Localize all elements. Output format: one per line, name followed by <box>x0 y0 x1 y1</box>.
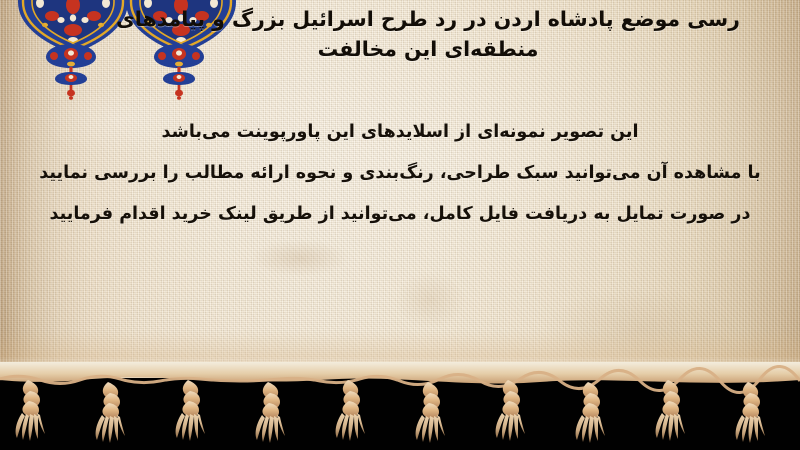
notice-line: در صورت تمایل به دریافت فایل کامل، می‌تو… <box>0 194 800 235</box>
carpet-fringe-tassels <box>0 360 800 450</box>
sample-slide-notice: این تصویر نمونه‌ای از اسلایدهای این پاور… <box>0 112 800 235</box>
slide-title: رسی موضع پادشاه اردن در رد طرح اسرائیل ب… <box>48 4 800 64</box>
slide-title-line: منطقه‌ای این مخالفت <box>48 34 800 64</box>
slide-canvas: رسی موضع پادشاه اردن در رد طرح اسرائیل ب… <box>0 0 800 450</box>
slide-title-line: رسی موضع پادشاه اردن در رد طرح اسرائیل ب… <box>48 4 800 34</box>
notice-line: با مشاهده آن می‌توانید سبک طراحی، رنگ‌بن… <box>0 153 800 194</box>
notice-line: این تصویر نمونه‌ای از اسلایدهای این پاور… <box>0 112 800 153</box>
